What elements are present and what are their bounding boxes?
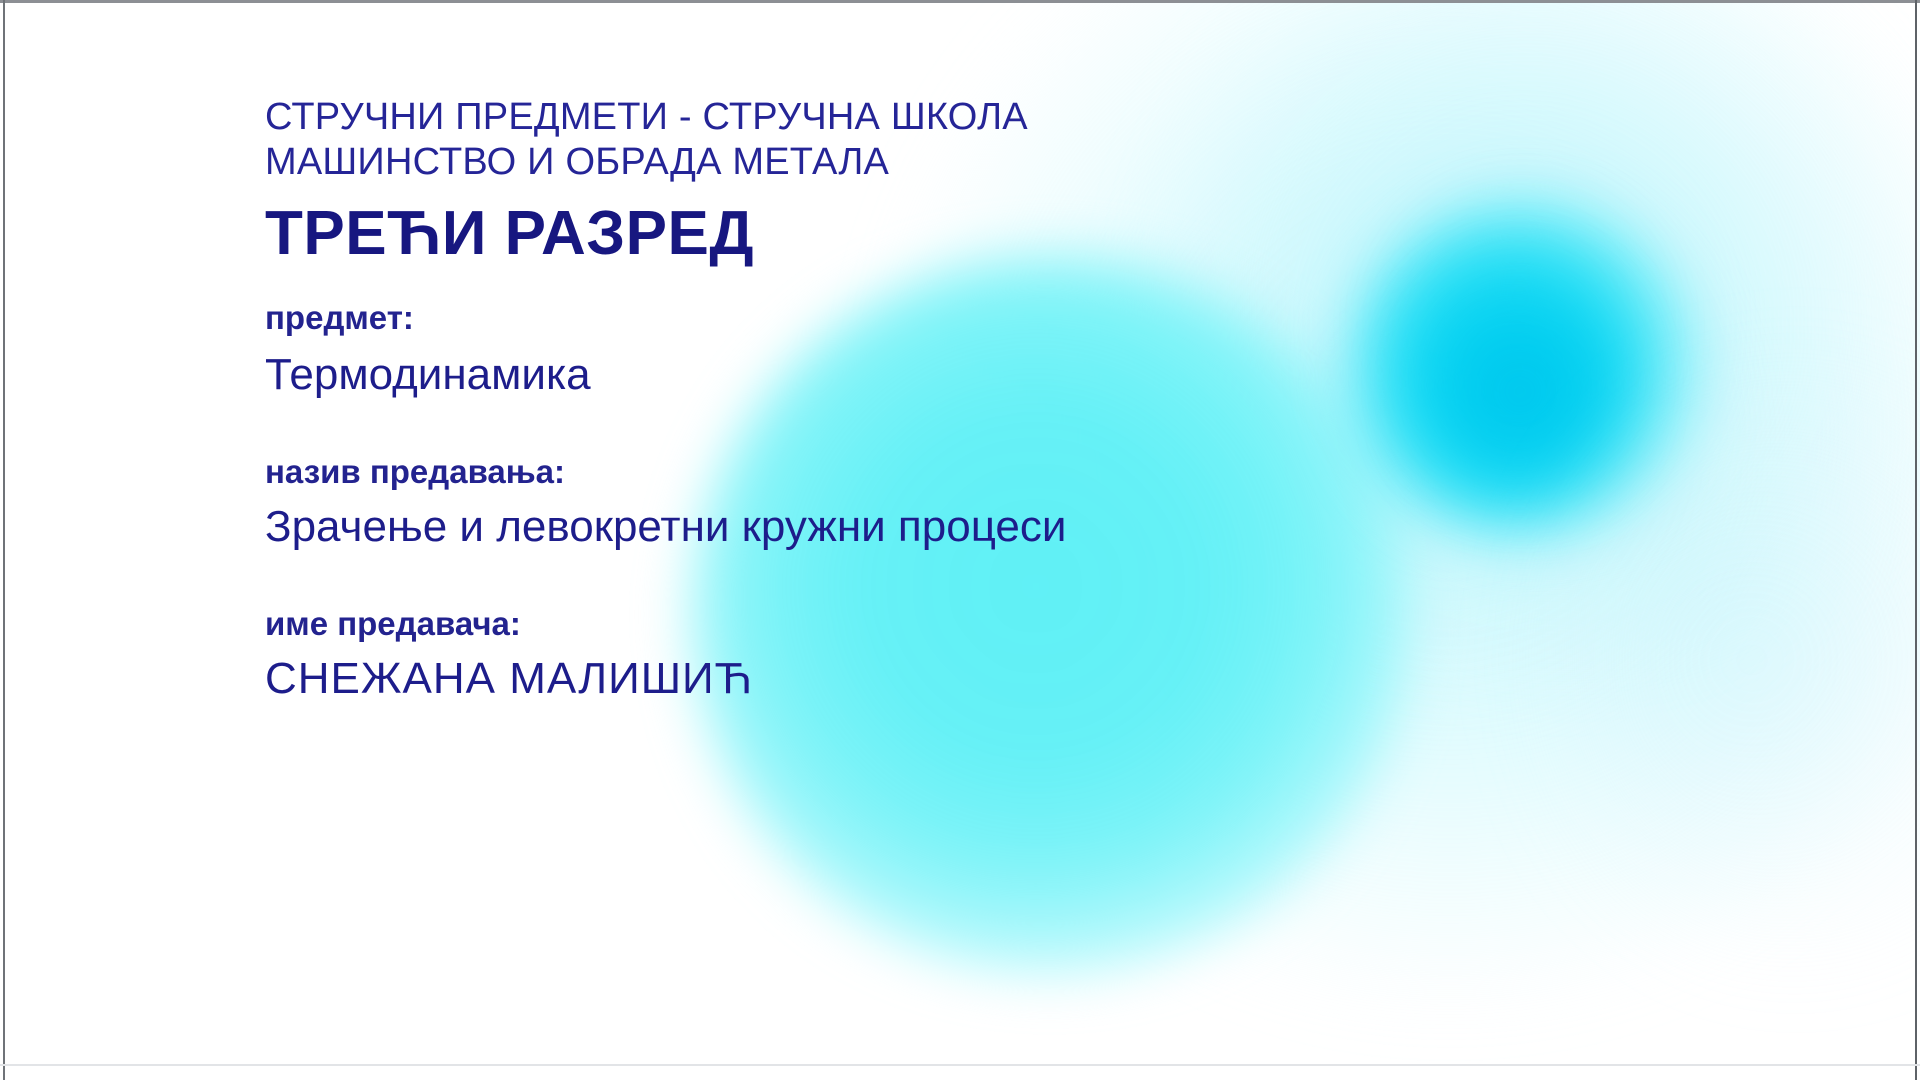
title-slide: СТРУЧНИ ПРЕДМЕТИ - СТРУЧНА ШКОЛА МАШИНСТ… (0, 0, 1920, 1080)
subject-label: предмет: (265, 299, 1505, 337)
right-edge-tint-blob (1560, 380, 1920, 940)
frame-border-bottom (0, 1064, 1920, 1066)
frame-border-top (0, 0, 1920, 3)
subject-value: Термодинамика (265, 349, 1505, 401)
lecture-label: назив предавања: (265, 453, 1505, 491)
school-line-2: МАШИНСТВО И ОБРАДА МЕТАЛА (265, 140, 1505, 185)
teacher-label: име предавача: (265, 605, 1505, 643)
teacher-value: СНЕЖАНА МАЛИШИЋ (265, 653, 1505, 705)
subject-field: предмет: Термодинамика (265, 299, 1505, 401)
lecture-field: назив предавања: Зрачење и левокретни кр… (265, 453, 1505, 553)
lecture-value: Зрачење и левокретни кружни процеси (265, 501, 1505, 553)
school-line-1: СТРУЧНИ ПРЕДМЕТИ - СТРУЧНА ШКОЛА (265, 95, 1505, 140)
grade-heading: ТРЕЋИ РАЗРЕД (265, 201, 1505, 267)
teacher-field: име предавача: СНЕЖАНА МАЛИШИЋ (265, 605, 1505, 705)
slide-text-block: СТРУЧНИ ПРЕДМЕТИ - СТРУЧНА ШКОЛА МАШИНСТ… (265, 95, 1505, 705)
frame-border-left (3, 0, 5, 1080)
frame-border-right (1915, 0, 1917, 1080)
